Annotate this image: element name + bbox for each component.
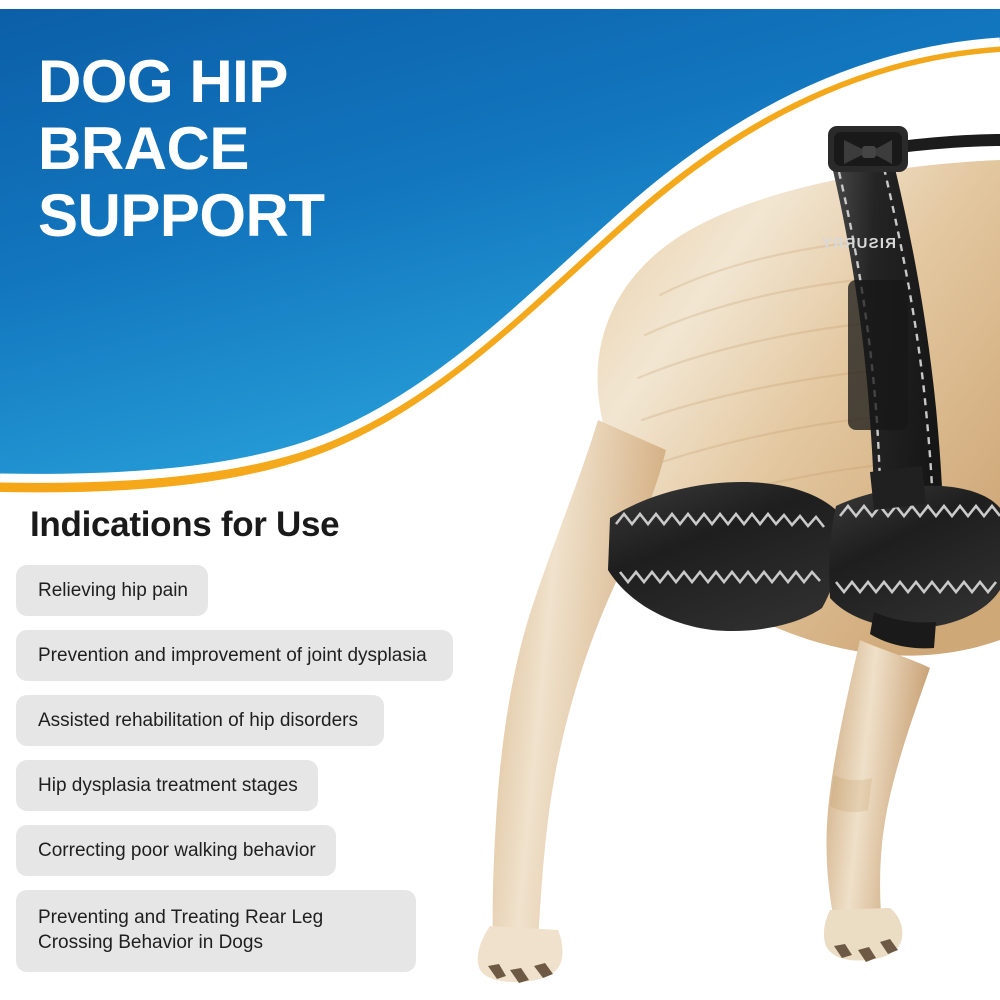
product-photo: RISURRY bbox=[430, 120, 1000, 1000]
brace-webbing bbox=[908, 134, 1000, 152]
brace-brand-text: RISURRY bbox=[821, 235, 896, 252]
headline-line-1: DOG HIP bbox=[38, 48, 468, 115]
list-item: Prevention and improvement of joint dysp… bbox=[16, 630, 453, 681]
brace-buckle bbox=[828, 126, 908, 172]
list-item: Preventing and Treating Rear Leg Crossin… bbox=[16, 890, 416, 971]
list-item: Assisted rehabilitation of hip disorders bbox=[16, 695, 384, 746]
brace-thigh-wrap-left bbox=[608, 482, 840, 631]
headline-line-3: SUPPORT bbox=[38, 182, 468, 249]
page-title: DOG HIP BRACE SUPPORT bbox=[38, 48, 468, 250]
dog-leg-left bbox=[493, 420, 666, 942]
dog-hock-shadow bbox=[830, 775, 872, 812]
section-title: Indications for Use bbox=[30, 505, 339, 545]
list-item: Relieving hip pain bbox=[16, 565, 208, 616]
headline-line-2: BRACE bbox=[38, 115, 468, 182]
brace-connector-tab bbox=[870, 466, 926, 510]
brace-strap-panel bbox=[848, 280, 908, 430]
product-infographic: DOG HIP BRACE SUPPORT bbox=[0, 0, 1000, 1000]
indications-list: Relieving hip pain Prevention and improv… bbox=[16, 565, 486, 986]
list-item: Correcting poor walking behavior bbox=[16, 825, 336, 876]
list-item: Hip dysplasia treatment stages bbox=[16, 760, 318, 811]
